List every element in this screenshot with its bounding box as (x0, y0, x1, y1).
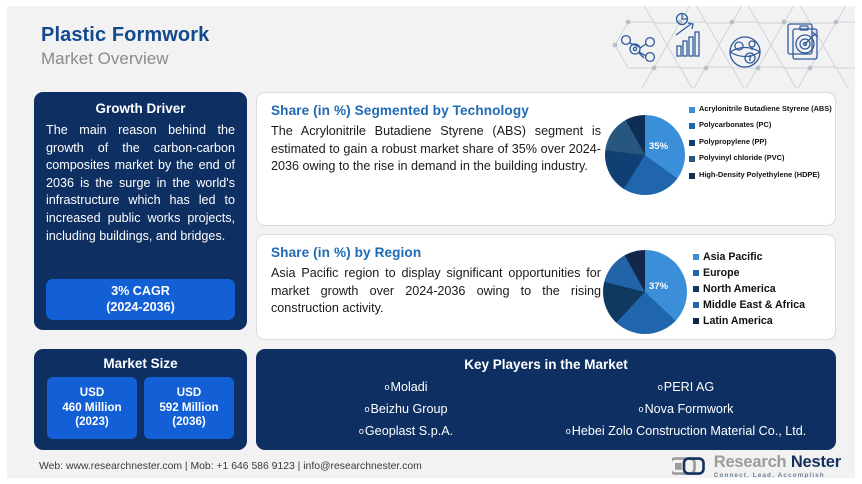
market-size-box-forecast-year: USD 592 Million (2036) (144, 377, 234, 439)
infographic-canvas: Plastic Formwork Market Overview Growth … (7, 6, 855, 478)
legend-swatch-icon (689, 156, 695, 162)
legend-item: Middle East & Africa (693, 299, 853, 312)
legend-label: Acrylonitrile Butadiene Styrene (ABS) (699, 104, 832, 113)
legend-item: Asia Pacific (693, 251, 853, 264)
logo-name: Research Nester (714, 454, 841, 471)
company-logo: Research Nester Connect. Lead. Accomplis… (672, 454, 841, 478)
cagr-badge: 3% CAGR (2024-2036) (46, 279, 235, 320)
legend-item: Europe (693, 267, 853, 280)
legend-label: Polypropylene (PP) (699, 137, 767, 146)
legend-item: Polypropylene (PP) (689, 137, 851, 146)
key-players-column-left: Moladi Beizhu Group Geoplast S.p.A. (266, 378, 546, 441)
growth-driver-title: Growth Driver (46, 101, 235, 116)
legend-swatch-icon (689, 107, 695, 113)
infographic-root: Plastic Formwork Market Overview Growth … (0, 0, 862, 484)
market-size-card: Market Size USD 460 Million (2023) USD 5… (34, 349, 247, 450)
legend-item: High-Density Polyethylene (HDPE) (689, 170, 851, 179)
legend-label: Polyvinyl chloride (PVC) (699, 153, 784, 162)
footer-contact: Web: www.researchnester.com | Mob: +1 64… (39, 461, 422, 472)
technology-pie (605, 115, 685, 195)
market-size-year: (2023) (75, 415, 109, 430)
legend-swatch-icon (693, 318, 699, 324)
clipboard-target-icon (788, 24, 817, 59)
network-research-icon (622, 36, 655, 62)
region-pie-chart: 37% Asia Pacific Europe North America (601, 245, 821, 331)
key-players-column-right: PERI AG Nova Formwork Hebei Zolo Constru… (546, 378, 826, 441)
legend-swatch-icon (693, 270, 699, 276)
list-item: PERI AG (658, 378, 714, 397)
legend-swatch-icon (689, 173, 695, 179)
hexagon-pattern-decoration (595, 6, 855, 88)
cagr-value: 3% CAGR (111, 284, 170, 300)
legend-item: Acrylonitrile Butadiene Styrene (ABS) (689, 104, 851, 113)
logo-word-research: Research (714, 453, 787, 471)
market-size-amount: 460 Million (62, 401, 121, 416)
list-item: Geoplast S.p.A. (359, 422, 453, 441)
legend-label: Asia Pacific (703, 251, 762, 264)
share-region-body: Asia Pacific region to display significa… (271, 265, 601, 318)
logo-wordmark: Research Nester Connect. Lead. Accomplis… (714, 454, 841, 478)
market-size-amount: 592 Million (159, 401, 218, 416)
technology-legend: Acrylonitrile Butadiene Styrene (ABS) Po… (689, 104, 851, 186)
share-by-region-card: Share (in %) by Region Asia Pacific regi… (256, 234, 836, 340)
share-by-technology-card: Share (in %) Segmented by Technology The… (256, 92, 836, 226)
legend-label: Polycarbonates (PC) (699, 120, 771, 129)
page-title: Plastic Formwork (41, 23, 209, 47)
key-players-card: Key Players in the Market Moladi Beizhu … (256, 349, 836, 450)
list-item: Hebei Zolo Construction Material Co., Lt… (566, 422, 807, 441)
legend-swatch-icon (689, 140, 695, 146)
currency-label: USD (80, 386, 104, 401)
legend-item: Polycarbonates (PC) (689, 120, 851, 129)
growth-driver-body: The main reason behind the growth of the… (46, 122, 235, 245)
legend-item: Latin America (693, 315, 853, 328)
list-item: Moladi (384, 378, 427, 397)
growth-driver-card: Growth Driver The main reason behind the… (34, 92, 247, 330)
cagr-period: (2024-2036) (106, 300, 175, 316)
page-subtitle: Market Overview (41, 48, 209, 70)
technology-pie-chart: 35% Acrylonitrile Butadiene Styrene (ABS… (601, 103, 821, 217)
interlocking-squares-logo-icon (672, 454, 708, 478)
key-players-title: Key Players in the Market (266, 357, 826, 372)
list-item: Nova Formwork (639, 400, 734, 419)
legend-label: High-Density Polyethylene (HDPE) (699, 170, 820, 179)
legend-item: Polyvinyl chloride (PVC) (689, 153, 851, 162)
share-region-heading: Share (in %) by Region (271, 245, 601, 260)
page-title-block: Plastic Formwork Market Overview (41, 23, 209, 70)
technology-pie-label: 35% (649, 141, 668, 152)
legend-label: Latin America (703, 315, 773, 328)
market-size-values: USD 460 Million (2023) USD 592 Million (… (43, 377, 238, 439)
share-technology-text: Share (in %) Segmented by Technology The… (271, 103, 601, 217)
header: Plastic Formwork Market Overview (7, 6, 855, 84)
globe-money-icon (730, 37, 760, 67)
legend-swatch-icon (693, 254, 699, 260)
region-legend: Asia Pacific Europe North America Middle… (693, 251, 853, 331)
legend-swatch-icon (693, 302, 699, 308)
region-pie (603, 250, 687, 334)
key-players-list: Moladi Beizhu Group Geoplast S.p.A. PERI… (266, 378, 826, 441)
logo-word-nester: Nester (791, 453, 841, 471)
market-size-box-base-year: USD 460 Million (2023) (47, 377, 137, 439)
legend-label: Middle East & Africa (703, 299, 805, 312)
legend-label: North America (703, 283, 776, 296)
legend-swatch-icon (693, 286, 699, 292)
market-size-year: (2036) (172, 415, 206, 430)
legend-label: Europe (703, 267, 740, 280)
list-item: Beizhu Group (364, 400, 447, 419)
market-size-title: Market Size (43, 356, 238, 371)
share-technology-heading: Share (in %) Segmented by Technology (271, 103, 601, 118)
currency-label: USD (177, 386, 201, 401)
legend-item: North America (693, 283, 853, 296)
share-technology-body: The Acrylonitrile Butadiene Styrene (ABS… (271, 123, 601, 176)
logo-tagline: Connect. Lead. Accomplish (714, 473, 841, 479)
legend-swatch-icon (689, 123, 695, 129)
region-pie-label: 37% (649, 281, 668, 292)
share-region-text: Share (in %) by Region Asia Pacific regi… (271, 245, 601, 331)
